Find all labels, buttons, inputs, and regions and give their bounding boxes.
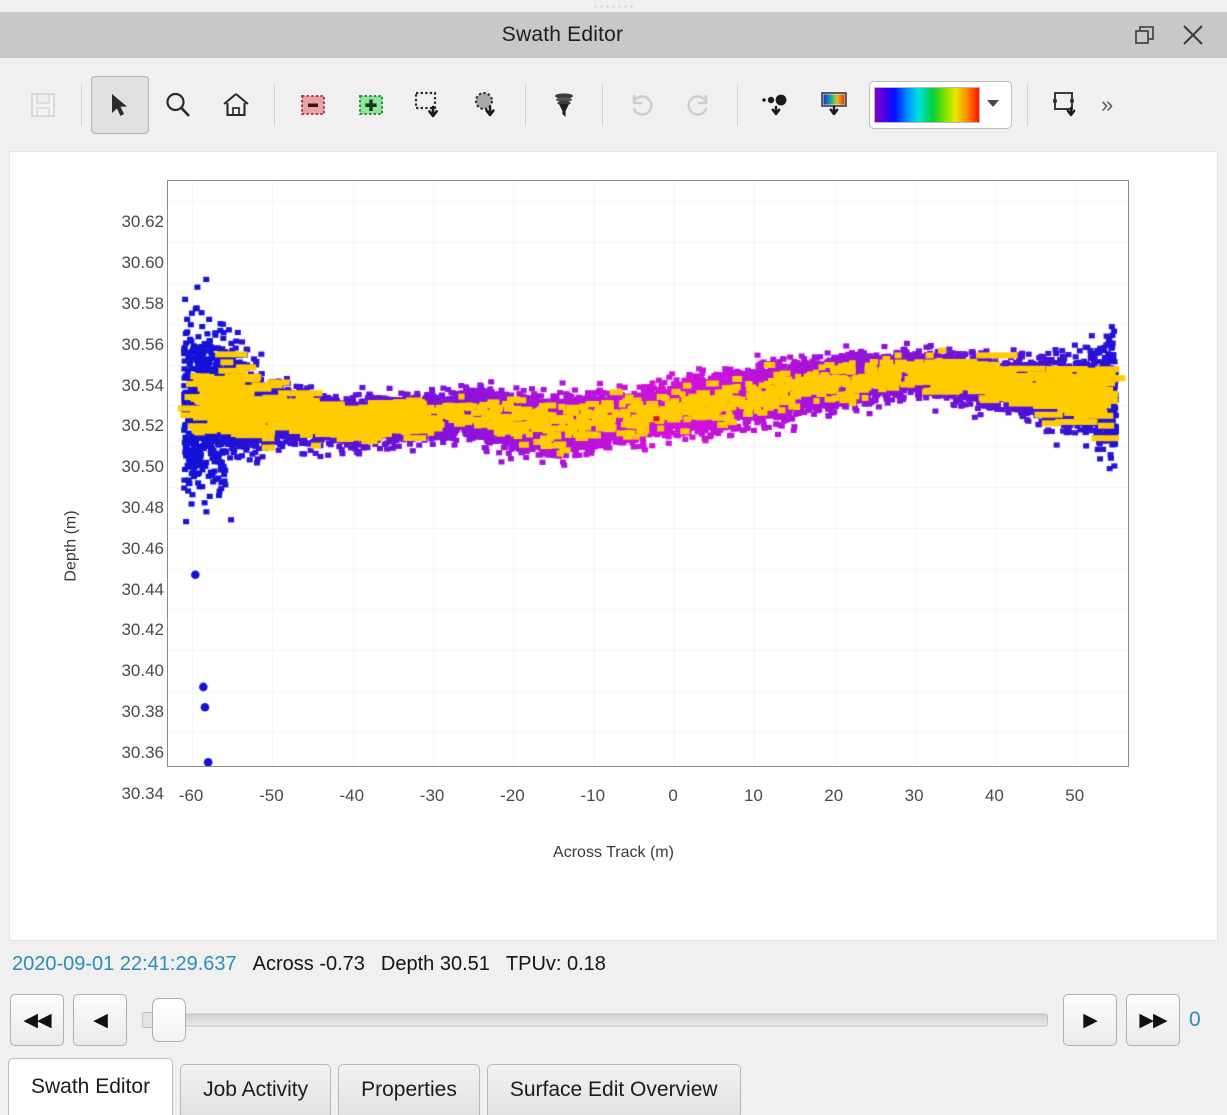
x-tick-label: 50 <box>1065 786 1084 806</box>
toolbar-separator <box>1027 84 1028 126</box>
rewind-icon: ◀◀ <box>23 1011 50 1030</box>
status-across: Across -0.73 <box>253 953 365 976</box>
y-axis-ticks: 30.3430.3630.3830.4030.4230.4430.4630.48… <box>82 174 164 940</box>
toolbar-separator <box>274 84 275 126</box>
fast-forward-button[interactable]: ▶▶ <box>1126 994 1180 1046</box>
toolbar-separator <box>602 84 603 126</box>
x-axis-ticks: -60-50-40-30-20-1001020304050 <box>167 786 1129 812</box>
point-size-button[interactable] <box>747 76 805 134</box>
color-ramp-combo[interactable] <box>869 81 1012 129</box>
close-icon[interactable] <box>1173 15 1213 55</box>
y-tick-label: 30.36 <box>121 743 164 763</box>
x-axis-label: Across Track (m) <box>10 844 1217 862</box>
y-tick-label: 30.54 <box>121 376 164 396</box>
redo-button[interactable] <box>670 76 728 134</box>
x-tick-label: -40 <box>339 786 364 806</box>
tab-surface-edit-overview[interactable]: Surface Edit Overview <box>487 1064 741 1115</box>
save-button[interactable] <box>14 76 72 134</box>
y-tick-label: 30.52 <box>121 416 164 436</box>
toolbar-separator <box>525 84 526 126</box>
tab-properties[interactable]: Properties <box>338 1064 480 1115</box>
rewind-button[interactable]: ◀◀ <box>10 994 64 1046</box>
toolbar: » <box>0 58 1227 151</box>
title-bar: Swath Editor <box>0 12 1227 58</box>
x-tick-label: -10 <box>580 786 605 806</box>
scatter-canvas[interactable] <box>168 181 1129 767</box>
x-tick-label: 40 <box>985 786 1004 806</box>
lasso-select-button[interactable] <box>458 76 516 134</box>
x-tick-label: 30 <box>905 786 924 806</box>
fast-forward-icon: ▶▶ <box>1139 1011 1166 1030</box>
y-tick-label: 30.62 <box>121 212 164 232</box>
y-axis-label: Depth (m) <box>63 510 81 581</box>
rectangle-select-button[interactable] <box>400 76 458 134</box>
window-title: Swath Editor <box>0 23 1125 47</box>
y-tick-label: 30.34 <box>121 784 164 804</box>
undo-button[interactable] <box>612 76 670 134</box>
timeline-slider[interactable] <box>142 995 1048 1045</box>
y-tick-label: 30.60 <box>121 253 164 273</box>
y-tick-label: 30.58 <box>121 294 164 314</box>
toolbar-separator <box>737 84 738 126</box>
step-back-icon: ◀ <box>93 1011 107 1030</box>
restore-window-icon[interactable] <box>1125 15 1165 55</box>
x-tick-label: 0 <box>668 786 677 806</box>
filter-button[interactable] <box>535 76 593 134</box>
bottom-tab-bar: Swath EditorJob ActivityPropertiesSurfac… <box>0 1053 1227 1115</box>
playback-controls: ◀◀ ◀ ▶ ▶▶ 0 <box>0 987 1227 1053</box>
toolbar-separator <box>81 84 82 126</box>
step-back-button[interactable]: ◀ <box>73 994 127 1046</box>
drag-dots <box>594 5 633 8</box>
extents-button[interactable] <box>1037 76 1095 134</box>
y-tick-label: 30.40 <box>121 661 164 681</box>
x-tick-label: 20 <box>824 786 843 806</box>
tab-swath-editor[interactable]: Swath Editor <box>8 1058 173 1115</box>
x-tick-label: -60 <box>179 786 204 806</box>
y-tick-label: 30.50 <box>121 457 164 477</box>
status-bar: 2020-09-01 22:41:29.637 Across -0.73 Dep… <box>0 941 1227 987</box>
swath-plot-panel: Depth (m) 30.3430.3630.3830.4030.4230.44… <box>9 151 1218 941</box>
y-tick-label: 30.42 <box>121 620 164 640</box>
status-depth: Depth 30.51 <box>381 953 490 976</box>
y-tick-label: 30.44 <box>121 580 164 600</box>
window-drag-handle[interactable] <box>0 0 1227 12</box>
plot-area: Depth (m) 30.3430.3630.3830.4030.4230.44… <box>10 152 1217 940</box>
window-buttons <box>1125 15 1227 55</box>
y-tick-label: 30.48 <box>121 498 164 518</box>
x-tick-label: -50 <box>259 786 284 806</box>
rainbow-ramp-icon <box>874 87 980 123</box>
overflow-button[interactable]: » <box>1095 92 1119 118</box>
ping-counter: 0 <box>1189 1008 1217 1032</box>
y-tick-label: 30.46 <box>121 539 164 559</box>
y-tick-label: 30.38 <box>121 702 164 722</box>
y-tick-label: 30.56 <box>121 335 164 355</box>
x-tick-label: -20 <box>500 786 525 806</box>
status-tpuv: TPUv: 0.18 <box>506 953 606 976</box>
chevron-down-icon[interactable] <box>985 96 1001 114</box>
select-pointer-button[interactable] <box>91 76 149 134</box>
x-tick-label: 10 <box>744 786 763 806</box>
slider-thumb[interactable] <box>152 998 186 1042</box>
play-button[interactable]: ▶ <box>1063 994 1117 1046</box>
status-timestamp: 2020-09-01 22:41:29.637 <box>12 953 237 976</box>
scatter-plot[interactable] <box>167 180 1129 767</box>
home-view-button[interactable] <box>207 76 265 134</box>
play-icon: ▶ <box>1083 1011 1097 1030</box>
zoom-button[interactable] <box>149 76 207 134</box>
tab-job-activity[interactable]: Job Activity <box>180 1064 331 1115</box>
color-mode-button[interactable] <box>805 76 863 134</box>
swath-editor-window: Swath Editor <box>0 0 1227 1115</box>
accept-points-button[interactable] <box>342 76 400 134</box>
x-tick-label: -30 <box>420 786 445 806</box>
slider-groove[interactable] <box>150 1014 1048 1027</box>
reject-points-button[interactable] <box>284 76 342 134</box>
